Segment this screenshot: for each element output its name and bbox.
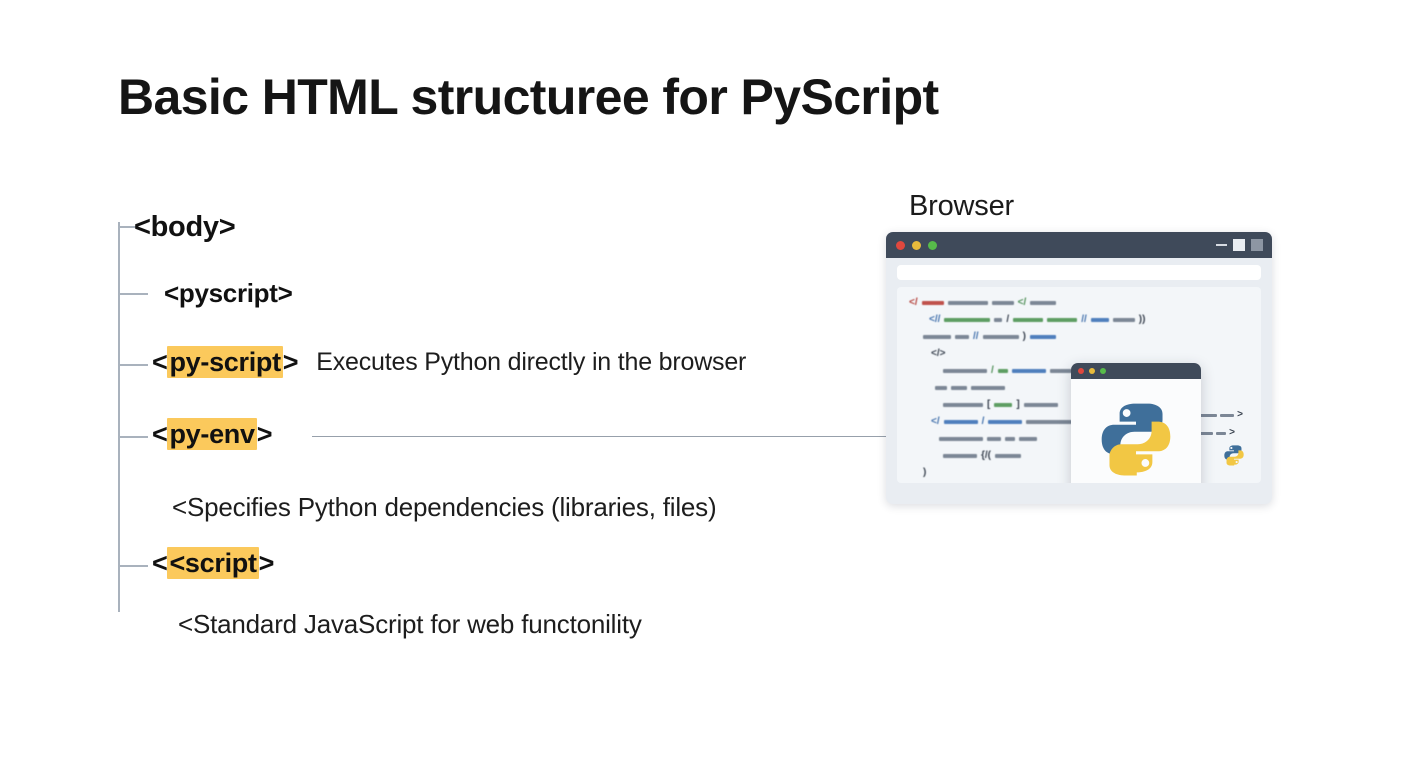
angle-open-bracket: < — [152, 548, 167, 578]
py-env-description-text: <Specifies Python dependencies (librarie… — [172, 492, 716, 523]
tree-node-pyscript-label: <pyscript> — [164, 278, 293, 309]
popup-titlebar — [1071, 363, 1201, 379]
angle-close-bracket: > — [259, 548, 274, 578]
tree-node-script-label: <<script> — [152, 548, 274, 579]
angle-close-bracket: > — [283, 347, 298, 377]
tree-node-script-description: <Standard JavaScript for web functonilit… — [178, 609, 642, 640]
inner-popup-window — [1071, 363, 1201, 483]
tree-node-py-env-name: py-env — [167, 418, 256, 450]
tree-node-py-script-name: py-script — [167, 346, 282, 378]
popup-body — [1071, 379, 1201, 483]
tree-node-script[interactable]: <<script> — [152, 548, 274, 579]
tree-node-body-label: <body> — [134, 211, 235, 244]
window-controls — [1216, 239, 1263, 251]
browser-content-area: </</ </////)) //) </> /// [] <////)) {/(… — [897, 287, 1261, 483]
tree-node-py-env-label: <py-env> — [152, 419, 272, 450]
angle-close-bracket: > — [257, 419, 272, 449]
maximize-dot-icon[interactable] — [928, 241, 937, 250]
tree-node-py-script[interactable]: <py-script> Executes Python directly in … — [152, 347, 746, 378]
tree-branch-py-script — [119, 364, 148, 366]
tree-branch-py-env — [119, 436, 148, 438]
browser-label: Browser — [909, 190, 1014, 223]
tree-node-py-script-description: Executes Python directly in the browser — [316, 348, 746, 377]
minimize-dot-icon[interactable] — [912, 241, 921, 250]
minimize-icon[interactable] — [1216, 244, 1227, 246]
py-env-to-browser-connector — [312, 436, 890, 437]
traffic-light-dots — [896, 241, 937, 250]
angle-open-bracket: < — [152, 419, 167, 449]
tree-node-script-name: <script — [167, 547, 258, 579]
restore-icon[interactable] — [1233, 239, 1245, 251]
tree-node-pyscript[interactable]: <pyscript> — [164, 278, 293, 309]
maximize-icon[interactable] — [1251, 239, 1263, 251]
python-logo-small-icon — [1223, 444, 1245, 466]
tree-node-py-env[interactable]: <py-env> — [152, 419, 272, 450]
python-logo-icon — [1097, 399, 1175, 477]
script-description-text: <Standard JavaScript for web functonilit… — [178, 609, 642, 640]
browser-address-bar[interactable] — [897, 265, 1261, 280]
popup-minimize-dot-icon[interactable] — [1089, 368, 1095, 374]
tree-branch-script — [119, 565, 148, 567]
tree-node-body[interactable]: <body> — [134, 211, 235, 244]
browser-window-mockup: </</ </////)) //) </> /// [] <////)) {/(… — [886, 232, 1272, 504]
close-dot-icon[interactable] — [896, 241, 905, 250]
angle-open-bracket: < — [152, 347, 167, 377]
tree-node-py-env-description: <Specifies Python dependencies (librarie… — [172, 492, 716, 523]
popup-maximize-dot-icon[interactable] — [1100, 368, 1106, 374]
browser-titlebar — [886, 232, 1272, 258]
tree-trunk-line — [118, 222, 120, 612]
tree-branch-pyscript — [119, 293, 148, 295]
tree-node-py-script-label: <py-script> — [152, 347, 298, 378]
popup-close-dot-icon[interactable] — [1078, 368, 1084, 374]
html-structure-tree: <body> <pyscript> <py-script> Executes P… — [0, 0, 860, 768]
